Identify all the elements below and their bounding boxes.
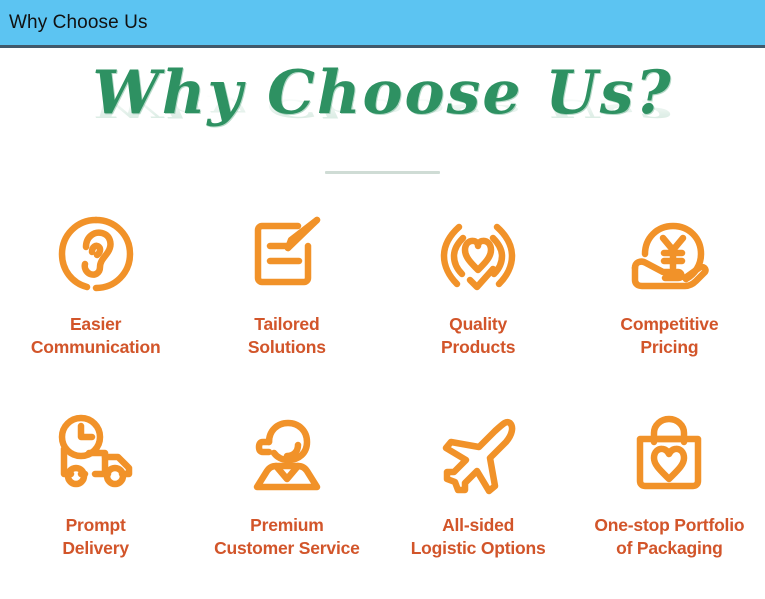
note-pencil-icon	[237, 204, 337, 304]
headset-agent-icon	[237, 405, 337, 505]
shopping-bag-heart-icon	[619, 405, 719, 505]
hero-section: Why Choose Us? Why Choose Us?	[0, 48, 765, 174]
heart-signal-check-icon	[428, 204, 528, 304]
delivery-truck-clock-icon	[46, 405, 146, 505]
feature-item-prompt-delivery[interactable]: Prompt Delivery	[0, 405, 191, 560]
feature-grid: Easier Communication Tailored Solutions	[0, 204, 765, 560]
feature-label: Easier Communication	[31, 313, 161, 359]
feature-item-quality-products[interactable]: Quality Products	[383, 204, 574, 359]
feature-label: All-sided Logistic Options	[411, 514, 546, 560]
feature-label: Prompt Delivery	[62, 514, 129, 560]
feature-item-one-stop-portfolio-of-packaging[interactable]: One-stop Portfolio of Packaging	[574, 405, 765, 560]
feature-label: Tailored Solutions	[248, 313, 326, 359]
feature-item-tailored-solutions[interactable]: Tailored Solutions	[191, 204, 382, 359]
feature-item-easier-communication[interactable]: Easier Communication	[0, 204, 191, 359]
feature-label: Premium Customer Service	[214, 514, 360, 560]
app-header-title: Why Choose Us	[9, 13, 148, 32]
feature-item-premium-customer-service[interactable]: Premium Customer Service	[191, 405, 382, 560]
app-header: Why Choose Us	[0, 0, 765, 48]
feature-item-competitive-pricing[interactable]: Competitive Pricing	[574, 204, 765, 359]
airplane-icon	[428, 405, 528, 505]
feature-label: One-stop Portfolio of Packaging	[594, 514, 744, 560]
feature-label: Competitive Pricing	[620, 313, 718, 359]
ear-listening-icon	[46, 204, 146, 304]
feature-item-all-sided-logistic-options[interactable]: All-sided Logistic Options	[383, 405, 574, 560]
hero-title-wrap: Why Choose Us? Why Choose Us?	[92, 62, 672, 184]
hand-yen-coin-icon	[619, 204, 719, 304]
page-title: Why Choose Us?	[92, 62, 672, 125]
feature-label: Quality Products	[441, 313, 515, 359]
